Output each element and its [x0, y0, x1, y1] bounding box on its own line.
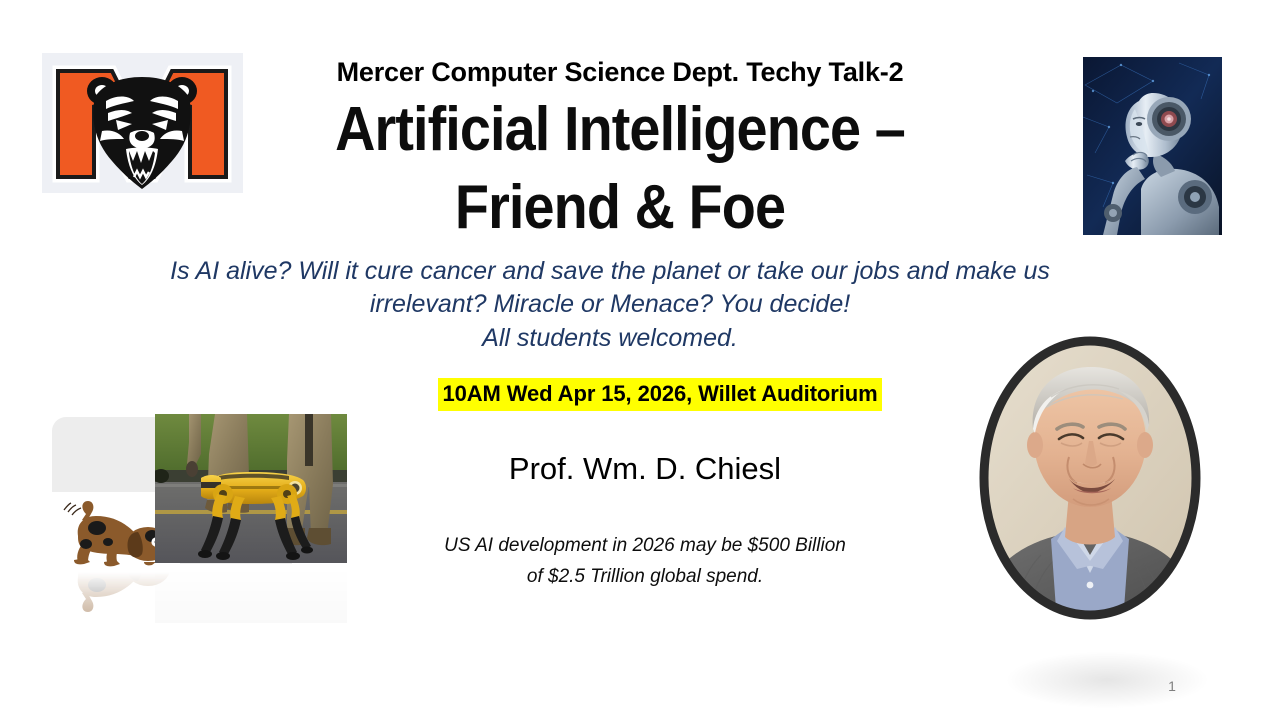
funding-line-1: US AI development in 2026 may be $500 Bi…: [370, 530, 920, 561]
mercer-bear-logo: [42, 53, 243, 193]
event-details: 10AM Wed Apr 15, 2026, Willet Auditorium: [300, 378, 1020, 411]
subtitle-line-3: All students welcomed.: [135, 322, 1085, 355]
funding-line-2: of $2.5 Trillion global spend.: [370, 561, 920, 592]
slide-subtitle: Is AI alive? Will it cure cancer and sav…: [135, 255, 1085, 355]
speaker-portrait: [973, 333, 1207, 623]
event-datetime-location: 10AM Wed Apr 15, 2026, Willet Auditorium: [438, 378, 881, 411]
slide-header: Mercer Computer Science Dept. Techy Talk…: [250, 58, 990, 246]
spot-robot-reflection: [155, 565, 347, 623]
thinking-robot-image: [1083, 57, 1222, 235]
subtitle-line-1: Is AI alive? Will it cure cancer and sav…: [170, 257, 948, 285]
presentation-slide: Mercer Computer Science Dept. Techy Talk…: [0, 0, 1280, 720]
title-line-1: Artificial Intelligence –: [287, 91, 953, 169]
department-line: Mercer Computer Science Dept. Techy Talk…: [250, 58, 990, 87]
speaker-name: Prof. Wm. D. Chiesl: [380, 450, 910, 487]
slide-number: 1: [1152, 678, 1192, 694]
page-title: Artificial Intelligence – Friend & Foe: [287, 91, 953, 246]
cartoon-dog-reflection: [52, 569, 180, 621]
title-line-2: Friend & Foe: [287, 169, 953, 247]
robot-dog-image-group: [52, 414, 347, 629]
funding-note: US AI development in 2026 may be $500 Bi…: [370, 530, 920, 593]
spot-robot-dog-photo: [155, 414, 347, 563]
